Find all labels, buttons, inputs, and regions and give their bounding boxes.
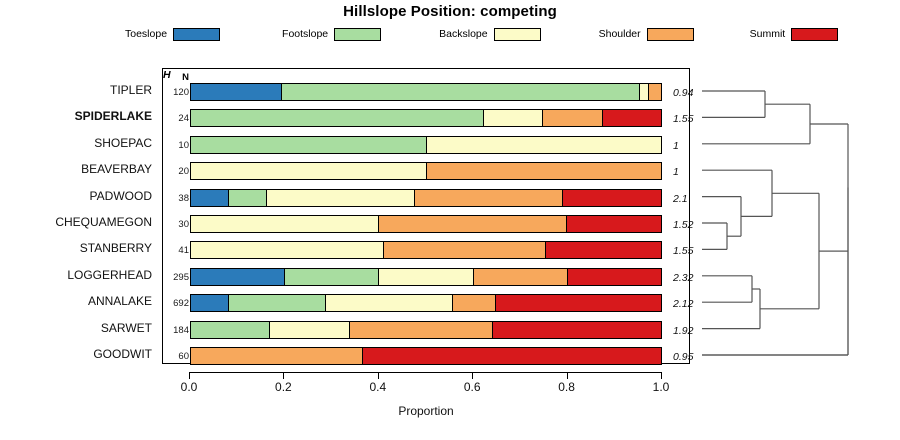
chart-row: 201 <box>163 160 691 182</box>
bar-segment-toeslope[interactable] <box>191 295 229 311</box>
bar-segment-shoulder[interactable] <box>384 242 546 258</box>
n-value: 24 <box>165 113 189 124</box>
bar-segment-backslope[interactable] <box>484 110 543 126</box>
bar-segment-toeslope[interactable] <box>191 84 282 100</box>
bar-segment-backslope[interactable] <box>191 163 427 179</box>
bar-segment-footslope[interactable] <box>229 295 326 311</box>
chart-row: 241.55 <box>163 107 691 129</box>
bar-segment-footslope[interactable] <box>229 190 267 206</box>
bar-segment-shoulder[interactable] <box>474 269 568 285</box>
x-axis-tick <box>378 372 379 379</box>
bar-segment-summit[interactable] <box>363 348 661 364</box>
stacked-bar[interactable] <box>190 136 662 154</box>
legend-item-summit: Summit <box>750 28 839 41</box>
legend-swatch-icon <box>173 28 220 41</box>
bar-segment-footslope[interactable] <box>285 269 379 285</box>
y-axis-label-chequamegon: CHEQUAMEGON <box>0 215 158 229</box>
x-axis-tick-label: 0.8 <box>543 380 591 394</box>
y-axis-labels: TIPLERSPIDERLAKESHOEPACBEAVERBAYPADWOODC… <box>0 68 158 364</box>
x-axis-tick <box>283 372 284 379</box>
n-value: 295 <box>165 272 189 283</box>
stacked-bar[interactable] <box>190 109 662 127</box>
bar-segment-summit[interactable] <box>603 110 661 126</box>
stacked-bar[interactable] <box>190 268 662 286</box>
n-value: 60 <box>165 351 189 362</box>
legend-label: Shoulder <box>599 28 641 40</box>
y-axis-label-goodwit: GOODWIT <box>0 347 158 361</box>
x-axis-tick-label: 0.0 <box>165 380 213 394</box>
stacked-bar[interactable] <box>190 215 662 233</box>
chart-row: 301.52 <box>163 213 691 235</box>
bar-segment-summit[interactable] <box>496 295 661 311</box>
n-value: 184 <box>165 325 189 336</box>
bar-segment-footslope[interactable] <box>191 110 484 126</box>
legend-item-footslope: Footslope <box>282 28 381 41</box>
legend-item-backslope: Backslope <box>439 28 540 41</box>
bar-segment-backslope[interactable] <box>427 137 662 153</box>
legend: ToeslopeFootslopeBackslopeShoulderSummit <box>125 25 775 43</box>
x-axis-tick <box>472 372 473 379</box>
bar-segment-backslope[interactable] <box>379 269 473 285</box>
bar-segment-shoulder[interactable] <box>379 216 567 232</box>
y-axis-label-beaverbay: BEAVERBAY <box>0 162 158 176</box>
bar-segment-shoulder[interactable] <box>649 84 661 100</box>
bar-segment-toeslope[interactable] <box>191 269 285 285</box>
dendrogram <box>690 60 900 370</box>
legend-swatch-icon <box>494 28 541 41</box>
y-axis-label-sarwet: SARWET <box>0 321 158 335</box>
x-axis-tick-label: 0.6 <box>448 380 496 394</box>
x-axis-tick <box>189 372 190 379</box>
y-axis-label-annalake: ANNALAKE <box>0 294 158 308</box>
x-axis-tick-label: 0.4 <box>354 380 402 394</box>
legend-item-toeslope: Toeslope <box>125 28 220 41</box>
bar-segment-backslope[interactable] <box>191 242 384 258</box>
n-value: 20 <box>165 166 189 177</box>
legend-label: Backslope <box>439 28 487 40</box>
x-axis-tick-label: 1.0 <box>637 380 685 394</box>
bar-segment-shoulder[interactable] <box>191 348 363 364</box>
bar-segment-backslope[interactable] <box>191 216 379 232</box>
n-value: 30 <box>165 219 189 230</box>
n-value: 692 <box>165 298 189 309</box>
chart-row: 101 <box>163 134 691 156</box>
bar-segment-shoulder[interactable] <box>453 295 496 311</box>
n-value: 120 <box>165 87 189 98</box>
bar-segment-summit[interactable] <box>567 216 661 232</box>
bar-segment-shoulder[interactable] <box>415 190 563 206</box>
bar-segment-toeslope[interactable] <box>191 190 229 206</box>
legend-item-shoulder: Shoulder <box>599 28 694 41</box>
y-axis-label-padwood: PADWOOD <box>0 189 158 203</box>
y-axis-label-tipler: TIPLER <box>0 83 158 97</box>
chart-row: 1200.94 <box>163 81 691 103</box>
y-axis-label-shoepac: SHOEPAC <box>0 136 158 150</box>
legend-swatch-icon <box>334 28 381 41</box>
bar-segment-shoulder[interactable] <box>427 163 662 179</box>
x-axis-tick <box>661 372 662 379</box>
n-value: 38 <box>165 193 189 204</box>
stacked-bar[interactable] <box>190 83 662 101</box>
bar-segment-footslope[interactable] <box>191 322 270 338</box>
chart-row: 6922.12 <box>163 292 691 314</box>
bar-segment-shoulder[interactable] <box>543 110 602 126</box>
legend-label: Footslope <box>282 28 328 40</box>
bar-segment-footslope[interactable] <box>191 137 427 153</box>
stacked-bar[interactable] <box>190 162 662 180</box>
x-axis-title: Proportion <box>162 404 690 418</box>
legend-label: Toeslope <box>125 28 167 40</box>
bar-segment-backslope[interactable] <box>267 190 415 206</box>
y-axis-label-spiderlake: SPIDERLAKE <box>0 109 158 123</box>
dendrogram-svg <box>690 60 900 370</box>
n-value: 10 <box>165 140 189 151</box>
bar-segment-shoulder[interactable] <box>350 322 493 338</box>
x-axis: 0.00.20.40.60.81.0 <box>162 364 690 404</box>
chart-row: 411.55 <box>163 239 691 261</box>
x-axis-tick <box>567 372 568 379</box>
bar-segment-summit[interactable] <box>563 190 661 206</box>
legend-label: Summit <box>750 28 786 40</box>
stacked-bar[interactable] <box>190 189 662 207</box>
stacked-bar[interactable] <box>190 294 662 312</box>
bar-segment-backslope[interactable] <box>640 84 649 100</box>
bar-segment-summit[interactable] <box>546 242 661 258</box>
x-axis-tick-label: 0.2 <box>259 380 307 394</box>
chart-row: 2952.32 <box>163 266 691 288</box>
legend-swatch-icon <box>791 28 838 41</box>
y-axis-label-stanberry: STANBERRY <box>0 241 158 255</box>
x-axis-line <box>189 372 661 373</box>
chart-title: Hillslope Position: competing <box>0 3 900 20</box>
n-value: 41 <box>165 245 189 256</box>
legend-swatch-icon <box>647 28 694 41</box>
bar-segment-backslope[interactable] <box>270 322 349 338</box>
y-axis-label-loggerhead: LOGGERHEAD <box>0 268 158 282</box>
stacked-bar[interactable] <box>190 241 662 259</box>
bar-segment-footslope[interactable] <box>282 84 641 100</box>
plot-panel: N H 1200.94241.55101201382.1301.52411.55… <box>162 68 690 364</box>
stacked-bar[interactable] <box>190 347 662 365</box>
stacked-bar[interactable] <box>190 321 662 339</box>
chart-row: 1841.92 <box>163 319 691 341</box>
chart-row: 382.1 <box>163 187 691 209</box>
bar-segment-summit[interactable] <box>493 322 661 338</box>
bar-segment-summit[interactable] <box>568 269 661 285</box>
bar-segment-backslope[interactable] <box>326 295 453 311</box>
